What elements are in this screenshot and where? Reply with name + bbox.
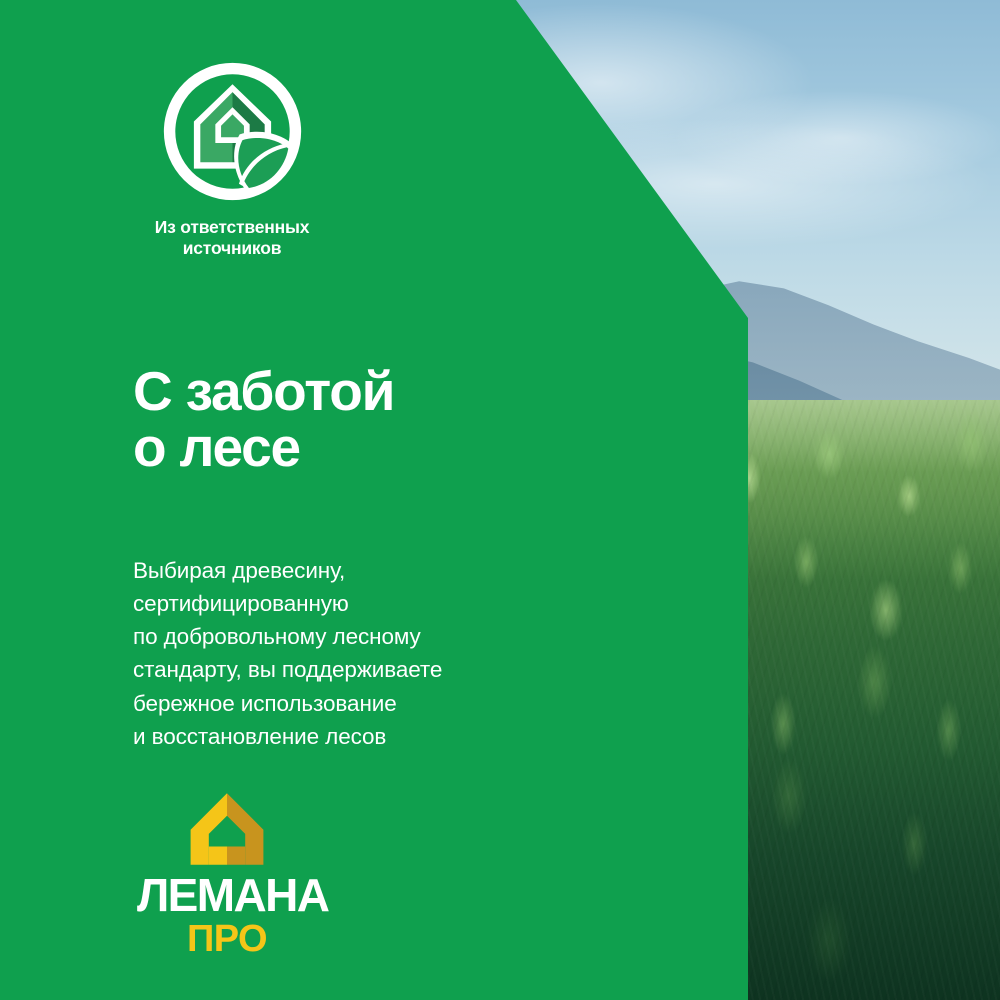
certification-badge: Из ответственных источников [132, 60, 332, 258]
body-copy: Выбирая древесину, сертифицированную по … [133, 554, 442, 754]
brand-logo: ЛЕМАНА ПРО [137, 790, 317, 958]
poster-content: Из ответственных источников С заботой о … [0, 0, 748, 1000]
responsible-sources-mark-icon [161, 60, 304, 203]
headline: С заботой о лесе [133, 363, 394, 475]
lemana-house-icon [185, 790, 269, 868]
poster-canvas: Из ответственных источников С заботой о … [0, 0, 1000, 1000]
brand-sub: ПРО [137, 920, 317, 958]
brand-name: ЛЕМАНА [137, 872, 317, 918]
certification-caption: Из ответственных источников [132, 217, 332, 258]
